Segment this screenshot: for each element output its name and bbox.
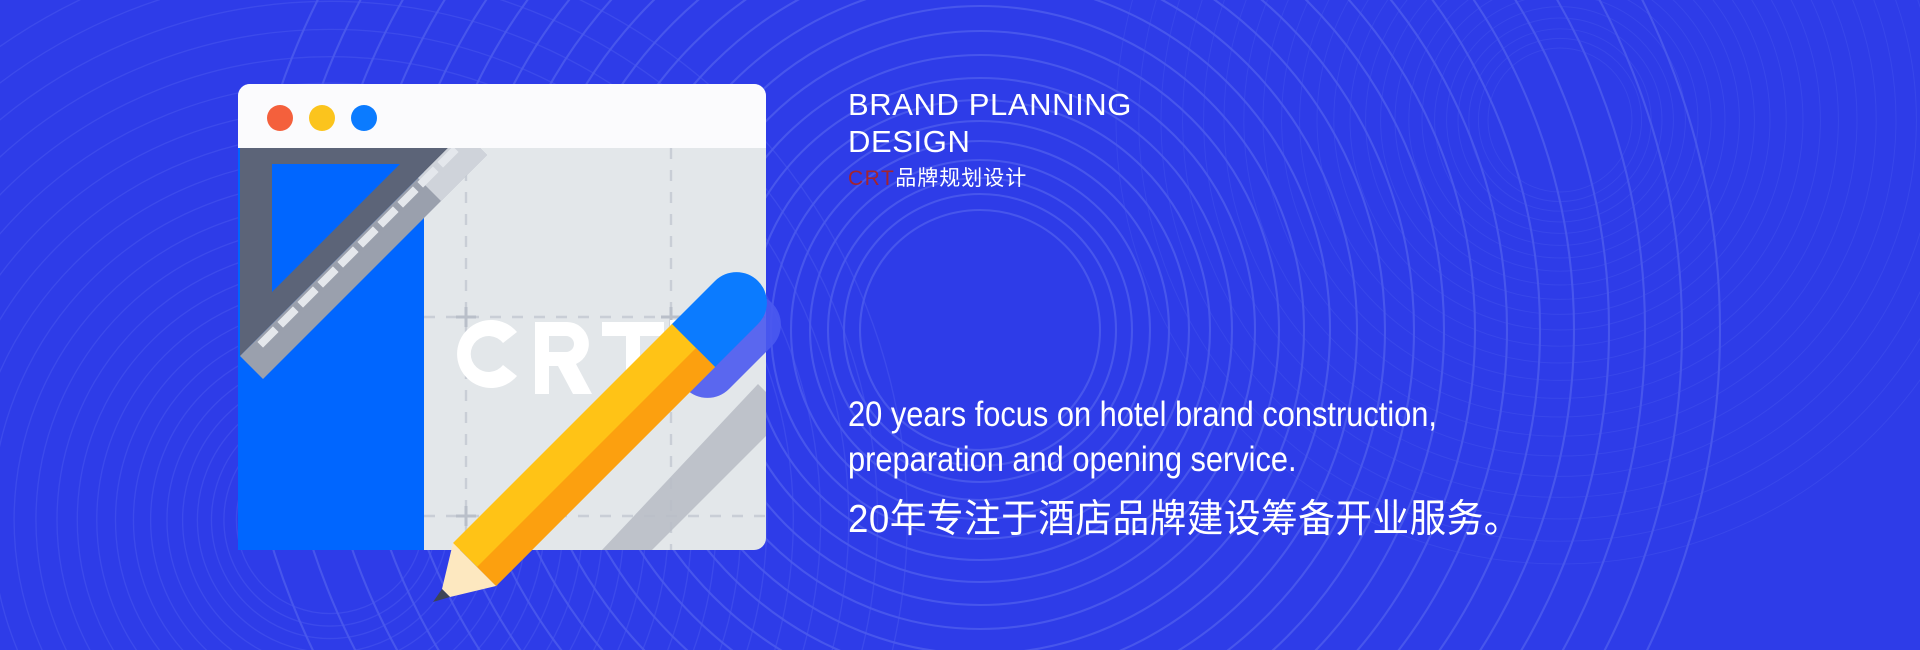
headline-en-line-1: 20 years focus on hotel brand constructi… — [848, 392, 1570, 437]
headline-en-line-2: preparation and opening service. — [848, 437, 1570, 482]
design-illustration — [228, 84, 788, 564]
eyebrow-line-2: DESIGN — [848, 123, 1408, 160]
eyebrow-line-1: BRAND PLANNING — [848, 86, 1408, 123]
minimize-dot[interactable] — [309, 105, 335, 131]
eyebrow-heading: BRAND PLANNING DESIGN CRT品牌规划设计 — [848, 86, 1408, 192]
close-dot[interactable] — [267, 105, 293, 131]
brand-banner: BRAND PLANNING DESIGN CRT品牌规划设计 20 years… — [0, 0, 1920, 650]
window-titlebar — [238, 84, 766, 148]
headline-zh-line: 20年专注于酒店品牌建设筹备开业服务。 — [848, 496, 1619, 544]
eyebrow-chinese-text: 品牌规划设计 — [895, 167, 1027, 190]
crt-mark: CRT — [848, 167, 895, 190]
headline-block: 20 years focus on hotel brand constructi… — [848, 392, 1668, 544]
text-column: BRAND PLANNING DESIGN CRT品牌规划设计 20 years… — [848, 0, 1848, 650]
eyebrow-chinese: CRT品牌规划设计 — [848, 166, 1408, 192]
maximize-dot[interactable] — [351, 105, 377, 131]
